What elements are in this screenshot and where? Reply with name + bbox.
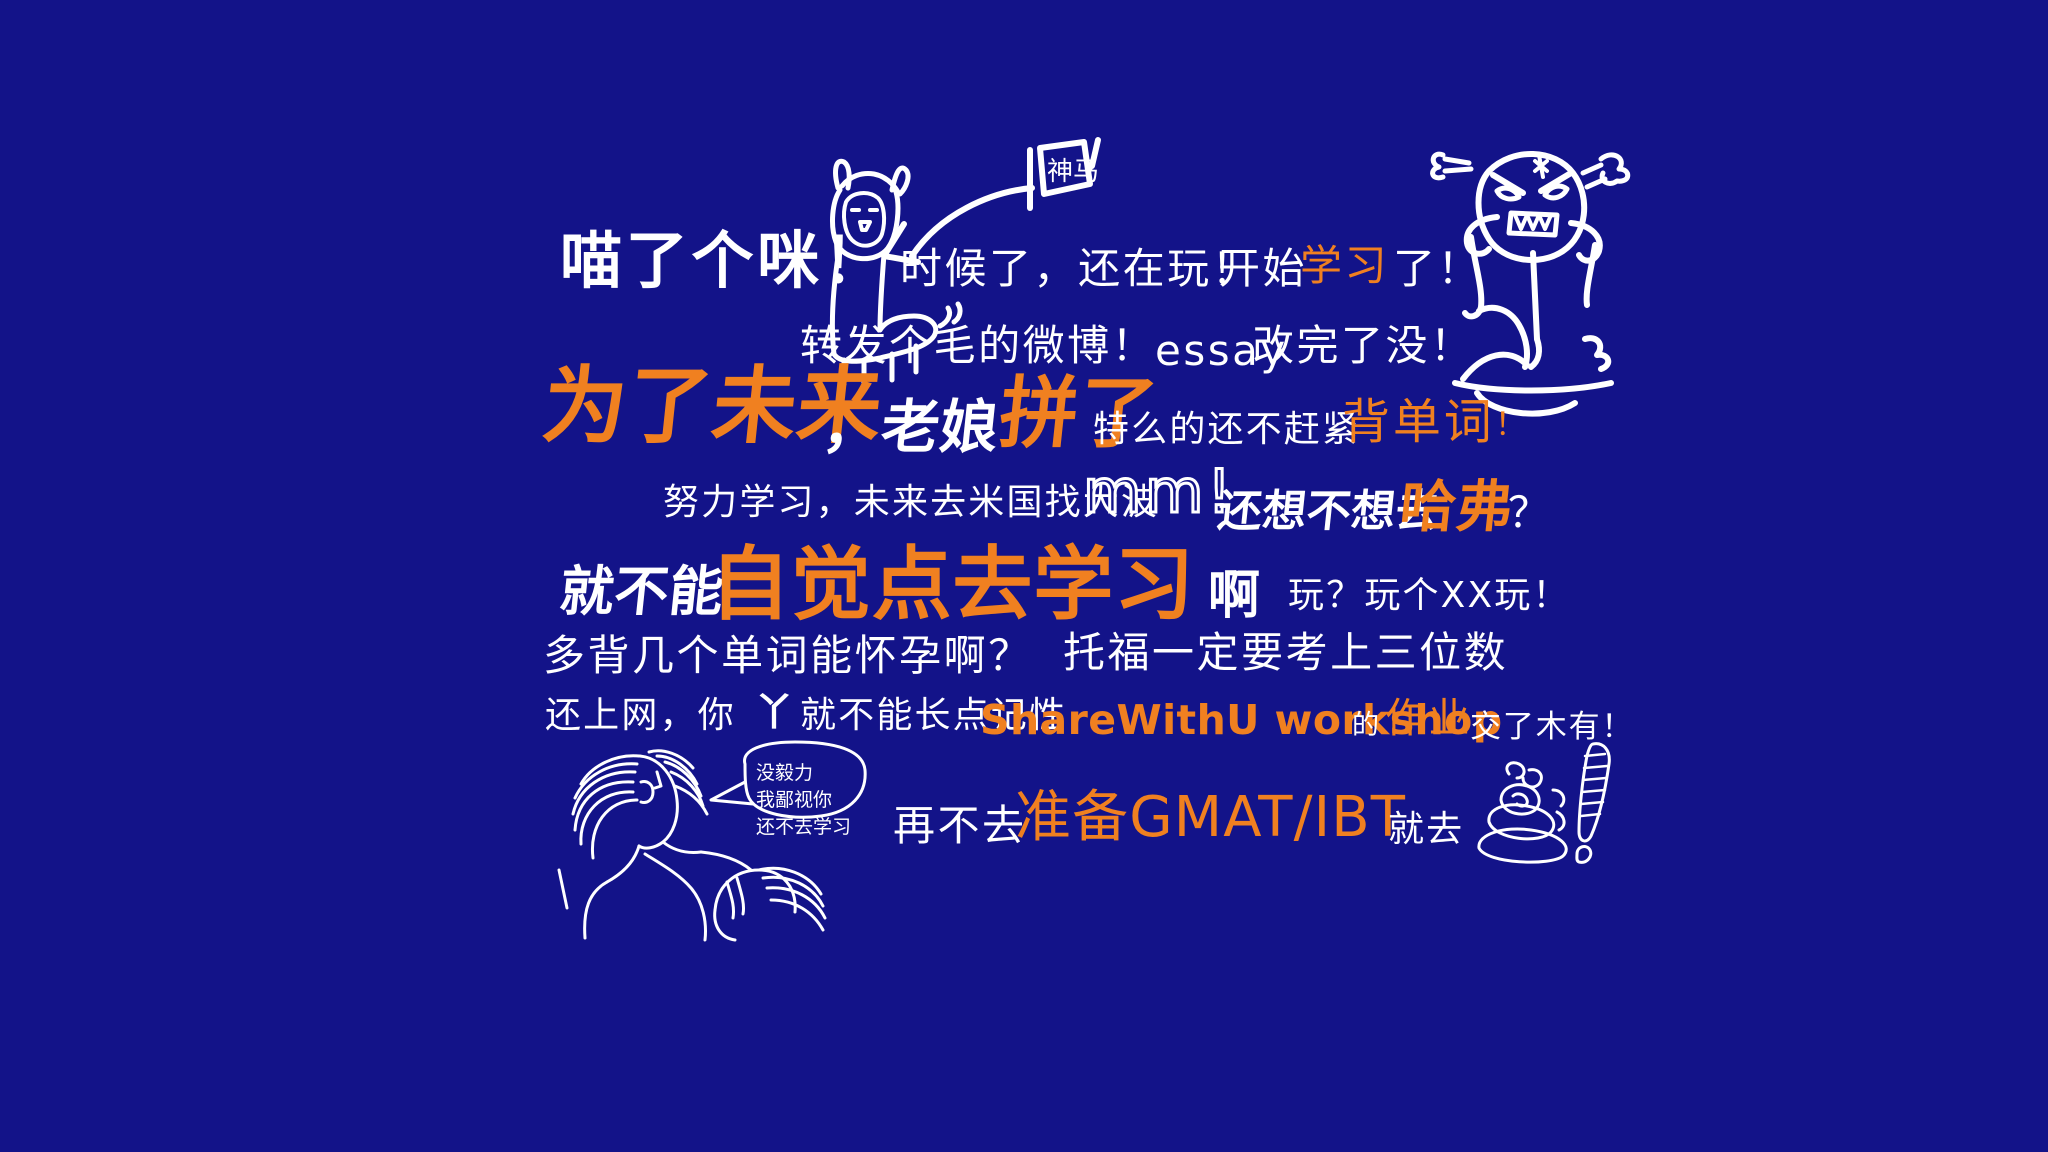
poster-canvas: 神马 [0, 0, 2048, 1152]
text-jiu-bu-neng: 就不能 [557, 565, 726, 619]
text-zuoye: 作业 [1385, 698, 1472, 739]
text-zai-bu-qu: 再不去 [893, 805, 1027, 847]
text-gaiwan-le-mei: 改完了没！ [1252, 325, 1475, 367]
text-zijue-dian-qu-xuexi: 自觉点去学习 [710, 545, 1195, 625]
text-jiu-qu: 就去 [1388, 812, 1464, 848]
text-de: 的 [1352, 712, 1381, 739]
text-duo-bei-ji-ge-danci: 多背几个单词能怀孕啊？ [543, 635, 1033, 677]
text-beidanci: 背单词 [1342, 398, 1495, 446]
text-comma-laoniang: ，老娘 [820, 398, 1002, 456]
exclamation-mark-doodle [1555, 740, 1625, 870]
text-le-excl: 了！ [1393, 248, 1482, 290]
two-people-bubble-line1: 没毅力 [756, 760, 813, 788]
two-people-doodle [545, 742, 885, 942]
text-hafu: 哈弗 [1397, 480, 1516, 536]
text-tuofu-san-wei-shu: 托福一定要考上三位数 [1063, 632, 1508, 674]
text-miao-le-ge-mi: 喵了个咪！ [560, 230, 889, 292]
text-question-1: ？ [1508, 492, 1553, 534]
text-hai-shang-wang: 还上网，你 [545, 698, 736, 734]
poop-doodle [1465, 760, 1585, 870]
two-people-bubble-line3: 还不去学习 [756, 814, 851, 842]
text-jiao-le-mu-you: 交了木有！ [1470, 712, 1634, 743]
text-a: 啊 [1208, 570, 1261, 622]
text-xuexi: 学习 [1300, 245, 1389, 287]
text-mm: mm! [1083, 462, 1235, 522]
text-zhunbei-gmat-ibt: 准备GMAT/IBT [1015, 790, 1406, 846]
two-people-bubble-line2: 我鄙视你 [756, 787, 832, 815]
text-shihou-le: 时候了，还在玩！ [900, 248, 1256, 290]
text-temede: 特么的还不赶紧 [1093, 412, 1360, 448]
text-excl-1: ！ [1495, 410, 1528, 441]
text-kaishi: 开始 [1218, 248, 1307, 290]
text-ya: 丫 [755, 693, 795, 731]
svg-text:神马: 神马 [1047, 157, 1099, 187]
text-wan-wan-ge-xx-wan: 玩？玩个XX玩！ [1288, 578, 1571, 614]
